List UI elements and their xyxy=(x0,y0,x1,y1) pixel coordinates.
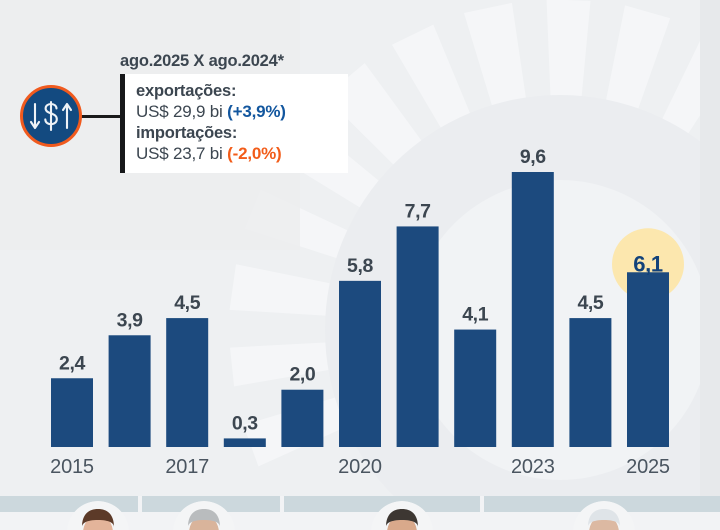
exports-value-row: US$ 29,9 bi (+3,9%) xyxy=(136,101,340,122)
imports-label: importações: xyxy=(136,123,340,143)
exports-label: exportações: xyxy=(136,81,340,101)
imports-delta: (-2,0%) xyxy=(227,144,281,163)
bar-2023[interactable] xyxy=(512,172,554,447)
bar-value-label-2019: 2,0 xyxy=(289,364,315,386)
bar-2016[interactable] xyxy=(109,335,151,447)
bar-value-label-2023: 9,6 xyxy=(520,146,546,168)
bar-value-label-2021: 7,7 xyxy=(405,200,431,222)
x-axis-tick-2023: 2023 xyxy=(511,456,555,478)
summary-box: exportações: US$ 29,9 bi (+3,9%) importa… xyxy=(120,74,348,173)
x-axis-tick-2020: 2020 xyxy=(338,456,382,478)
currency-exchange-icon xyxy=(20,85,82,147)
exports-delta: (+3,9%) xyxy=(227,102,286,121)
exports-value: US$ 29,9 bi xyxy=(136,102,223,121)
bar-2017[interactable] xyxy=(166,318,208,447)
x-axis-tick-2025: 2025 xyxy=(626,456,670,478)
bar-2024[interactable] xyxy=(569,318,611,447)
bar-value-label-2024: 4,5 xyxy=(577,292,603,314)
bar-2022[interactable] xyxy=(454,330,496,447)
bar-2020[interactable] xyxy=(339,281,381,447)
bar-2015[interactable] xyxy=(51,378,93,447)
bar-value-label-2015: 2,4 xyxy=(59,352,85,374)
bar-2018[interactable] xyxy=(224,438,266,447)
bar-2025[interactable] xyxy=(627,272,669,447)
bar-2021[interactable] xyxy=(397,226,439,447)
bar-value-label-2018: 0,3 xyxy=(232,412,258,434)
x-axis-tick-2015: 2015 xyxy=(50,456,94,478)
imports-value-row: US$ 23,7 bi (-2,0%) xyxy=(136,143,340,164)
bar-value-label-2016: 3,9 xyxy=(117,309,143,331)
bar-value-label-2022: 4,1 xyxy=(462,304,488,326)
bar-value-label-2025: 6,1 xyxy=(633,251,663,276)
imports-value: US$ 23,7 bi xyxy=(136,144,223,163)
x-axis-tick-2017: 2017 xyxy=(165,456,209,478)
currency-exchange-glyph xyxy=(28,99,74,133)
presidential-terms-footer xyxy=(0,496,720,530)
bar-value-label-2017: 4,5 xyxy=(174,292,200,314)
callout-title: ago.2025 X ago.2024* xyxy=(120,52,284,71)
bar-chart: 2,420153,94,520170,32,05,820207,74,19,62… xyxy=(0,0,720,530)
bar-value-label-2020: 5,8 xyxy=(347,255,373,277)
bar-2019[interactable] xyxy=(281,390,323,447)
